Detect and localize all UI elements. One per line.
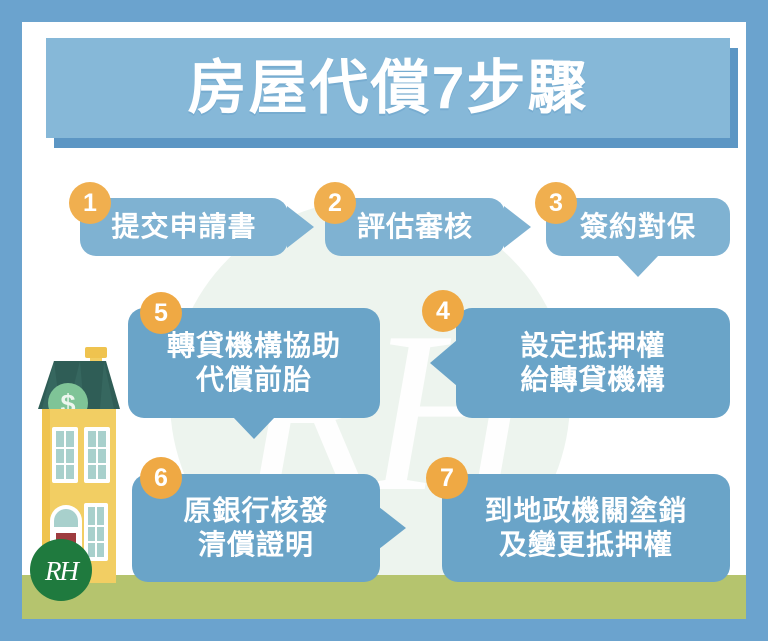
step-5-label-line-2: 代償前胎 (196, 363, 312, 397)
rh-logo-text: RH (30, 539, 92, 601)
step-6-number-badge: 6 (140, 457, 182, 499)
step-1-number-badge: 1 (69, 182, 111, 224)
step-5-label-line-1: 轉貸機構協助 (167, 329, 341, 363)
step-3-tail-down-icon (617, 255, 659, 277)
step-4-bubble: 設定抵押權 給轉貸機構 (456, 308, 730, 418)
step-4-number-badge: 4 (422, 290, 464, 332)
page-title: 房屋代償7步驟 (46, 38, 730, 138)
step-6-label-line-2: 清償證明 (198, 528, 314, 562)
poster-canvas: RH 房屋代償7步驟 $ (22, 22, 746, 619)
step-1-bubble: 提交申請書 (80, 198, 288, 256)
title-banner: 房屋代償7步驟 (46, 38, 730, 146)
step-1-label-line-1: 提交申請書 (111, 210, 256, 244)
step-2-label-line-1: 評估審核 (357, 210, 473, 244)
step-5-tail-down-icon (233, 417, 275, 439)
step-7-number-badge: 7 (426, 457, 468, 499)
step-6-label-line-1: 原銀行核發 (183, 494, 328, 528)
step-4-label-line-1: 設定抵押權 (520, 329, 665, 363)
step-1-tail-right-icon (287, 206, 314, 248)
step-6-tail-right-icon (379, 507, 406, 549)
step-4[interactable]: 設定抵押權 給轉貸機構 (456, 308, 730, 418)
infographic-poster: RH 房屋代償7步驟 $ (0, 0, 768, 641)
step-3-label-line-1: 簽約對保 (580, 210, 696, 244)
step-4-label-line-2: 給轉貸機構 (520, 363, 665, 397)
step-2-number-badge: 2 (314, 182, 356, 224)
rh-logo: RH (30, 539, 92, 601)
step-5-number-badge: 5 (140, 292, 182, 334)
step-7-bubble: 到地政機關塗銷 及變更抵押權 (442, 474, 730, 582)
step-2-tail-right-icon (504, 206, 531, 248)
step-1[interactable]: 提交申請書 (80, 198, 288, 256)
step-7-label-line-1: 到地政機關塗銷 (484, 494, 687, 528)
step-7[interactable]: 到地政機關塗銷 及變更抵押權 (442, 474, 730, 582)
step-3-number-badge: 3 (535, 182, 577, 224)
step-7-label-line-2: 及變更抵押權 (499, 528, 673, 562)
step-4-tail-left-icon (430, 340, 457, 386)
